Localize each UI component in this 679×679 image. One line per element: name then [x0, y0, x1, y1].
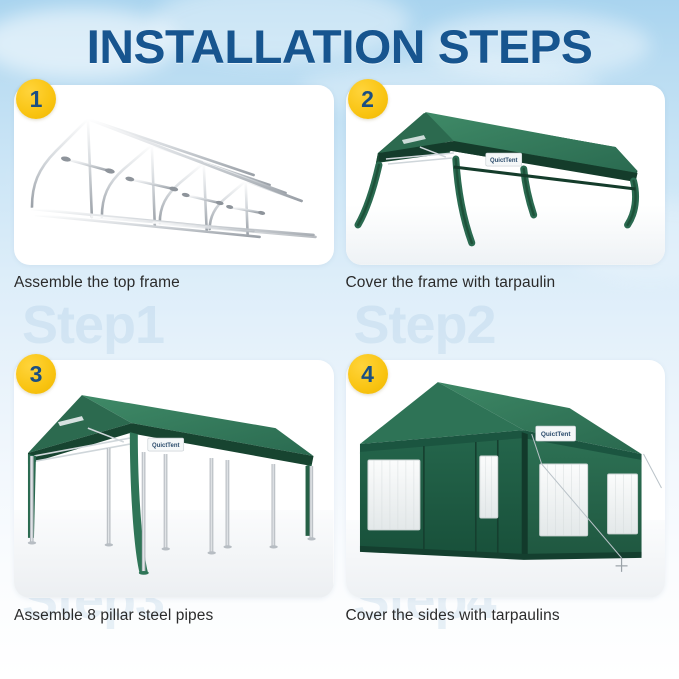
- steps-grid: Step1 1: [0, 85, 679, 625]
- step-card-4: Step4 4: [346, 360, 666, 625]
- step-illustration-card-1: [14, 85, 334, 265]
- page-title: INSTALLATION STEPS: [0, 0, 679, 71]
- step-caption-1: Assemble the top frame: [14, 274, 334, 292]
- enclosed-carport-illustration: QuictTent: [346, 360, 666, 598]
- top-frame-illustration: [14, 85, 334, 265]
- step-number-badge-4: 4: [348, 354, 388, 394]
- step-illustration-card-2: QuictTent: [346, 85, 666, 265]
- svg-text:QuictTent: QuictTent: [152, 443, 179, 449]
- step-illustration-card-4: QuictTent: [346, 360, 666, 598]
- step-number-badge-2: 2: [348, 79, 388, 119]
- svg-text:QuictTent: QuictTent: [540, 431, 571, 438]
- canopy-cover-illustration: QuictTent: [346, 85, 666, 265]
- step-watermark: Step2: [354, 294, 496, 356]
- eight-pillar-carport-illustration: QuictTent: [14, 360, 334, 598]
- step-card-1: Step1 1: [14, 85, 334, 350]
- step-caption-2: Cover the frame with tarpaulin: [346, 274, 666, 292]
- step-card-2: Step2 2: [346, 85, 666, 350]
- step-watermark: Step1: [22, 294, 164, 356]
- step-caption-4: Cover the sides with tarpaulins: [346, 607, 666, 625]
- step-caption-3: Assemble 8 pillar steel pipes: [14, 607, 334, 625]
- step-illustration-card-3: QuictTent: [14, 360, 334, 598]
- svg-text:QuictTent: QuictTent: [490, 158, 517, 164]
- step-card-3: Step3 3: [14, 360, 334, 625]
